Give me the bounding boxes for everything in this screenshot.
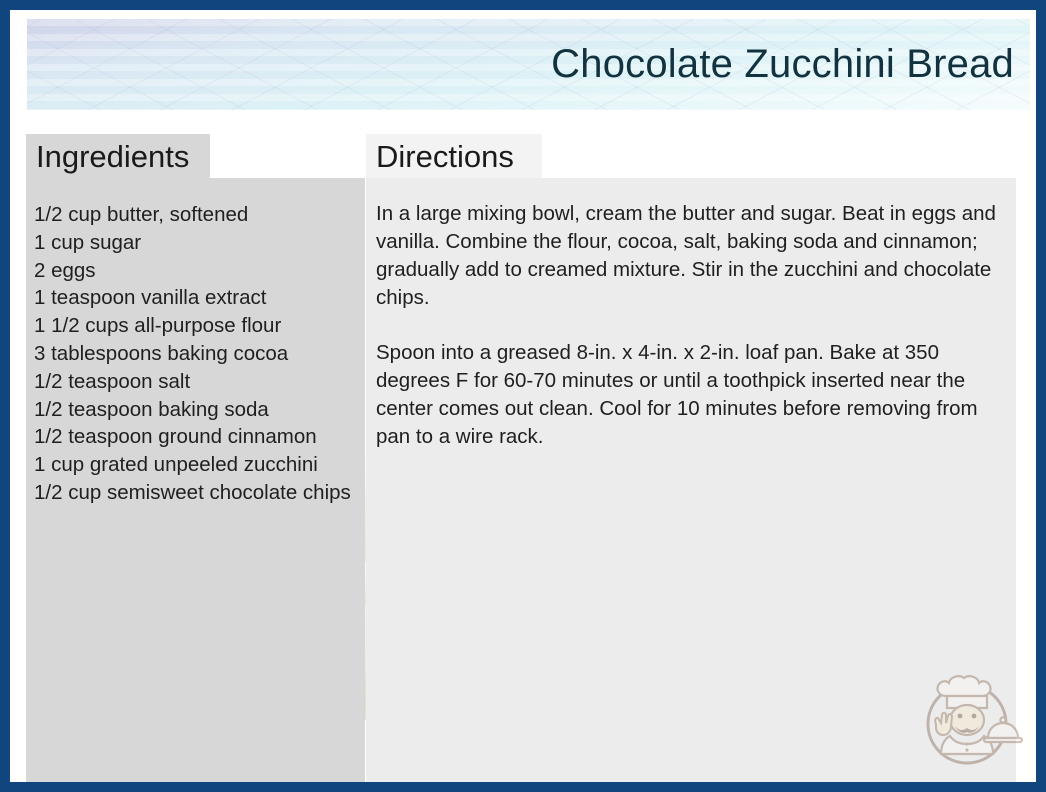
page-title: Chocolate Zucchini Bread — [551, 42, 1014, 87]
ingredient-item: 1 cup grated unpeeled zucchini — [34, 451, 362, 479]
ingredients-list: 1/2 cup butter, softened 1 cup sugar 2 e… — [34, 201, 362, 507]
directions-heading-label: Directions — [376, 141, 514, 172]
ingredient-item: 1/2 cup butter, softened — [34, 201, 362, 229]
ingredient-item: 1/2 cup semisweet chocolate chips — [34, 479, 362, 507]
ingredient-item: 1 teaspoon vanilla extract — [34, 284, 362, 312]
ingredient-item: 1 cup sugar — [34, 229, 362, 257]
slide-canvas: Chocolate Zucchini Bread Ingredients 1/2… — [10, 10, 1036, 782]
ingredient-item: 1/2 teaspoon baking soda — [34, 396, 362, 424]
ingredients-header: Ingredients — [26, 134, 210, 178]
ingredient-item: 3 tablespoons baking cocoa — [34, 340, 362, 368]
directions-paragraph: Spoon into a greased 8-in. x 4-in. x 2-i… — [376, 339, 1010, 451]
ingredient-item: 1 1/2 cups all-purpose flour — [34, 312, 362, 340]
directions-paragraph: In a large mixing bowl, cream the butter… — [376, 200, 1010, 312]
directions-header: Directions — [366, 134, 542, 178]
chef-with-cloche-logo — [908, 660, 1026, 778]
ingredient-item: 1/2 teaspoon salt — [34, 368, 362, 396]
directions-body: In a large mixing bowl, cream the butter… — [376, 200, 1010, 451]
ingredient-item: 2 eggs — [34, 257, 362, 285]
recipe-slide: Chocolate Zucchini Bread Ingredients 1/2… — [0, 0, 1046, 792]
title-banner: Chocolate Zucchini Bread — [27, 19, 1030, 110]
ingredient-item: 1/2 teaspoon ground cinnamon — [34, 423, 362, 451]
ingredients-heading-label: Ingredients — [36, 141, 189, 172]
